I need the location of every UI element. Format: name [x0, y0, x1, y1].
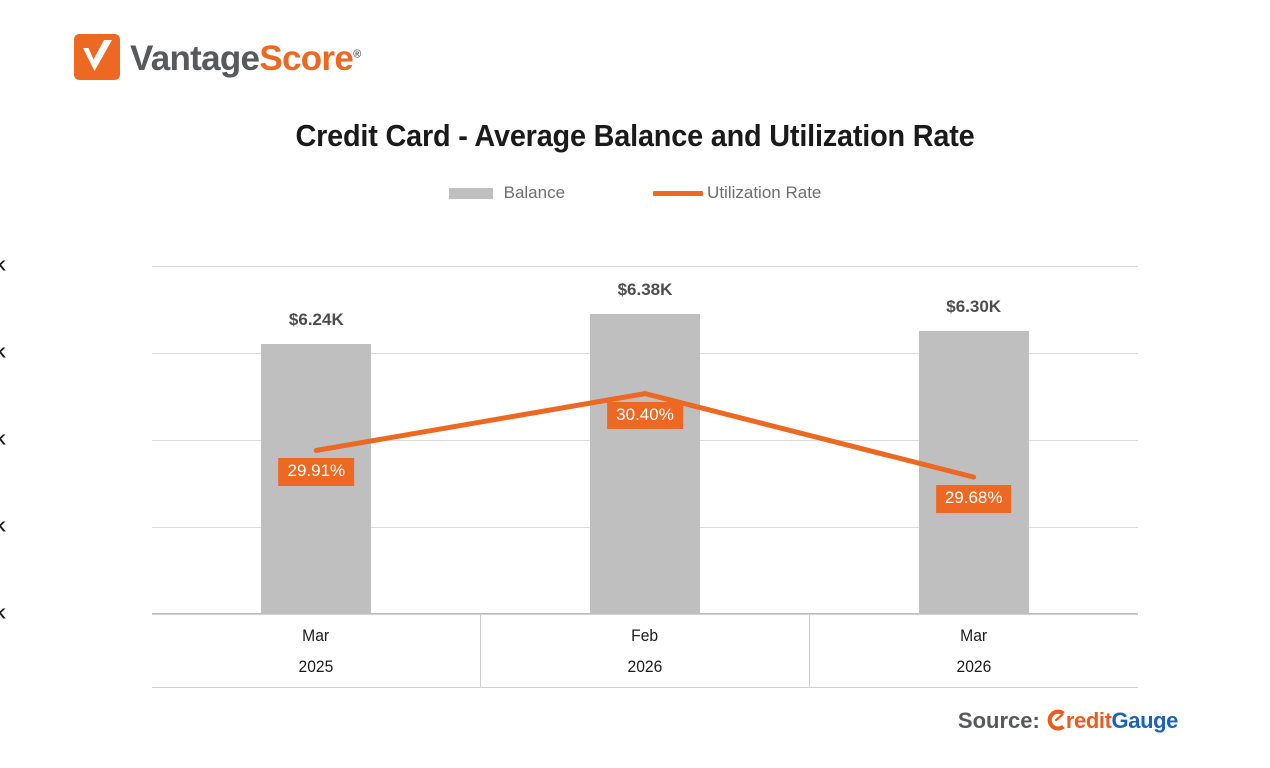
gridline	[152, 266, 1138, 267]
line-value-label: 29.91%	[278, 458, 354, 486]
x-axis-category-cell: Feb2026	[481, 615, 810, 687]
creditgauge-wordmark-credit: redit	[1046, 708, 1112, 734]
x-axis-year-label: 2025	[299, 657, 334, 677]
creditgauge-wordmark-gauge: Gauge	[1112, 708, 1178, 734]
vantagescore-logo: VantageScore®	[74, 33, 361, 81]
line-value-label: 29.68%	[936, 485, 1012, 513]
legend-item-balance: Balance	[449, 183, 565, 203]
bar-balance	[919, 331, 1029, 614]
x-axis-category-cell: Mar2025	[152, 615, 481, 687]
y-axis-left-tick-label: $5.0K	[0, 606, 6, 623]
logo-text-score: Score	[259, 39, 353, 78]
page-title: Credit Card - Average Balance and Utiliz…	[44, 118, 1225, 154]
x-axis-month-label: Feb	[632, 626, 659, 646]
chart-plot-area: $6.6K$6.2K$5.8K$5.4K$5.0K31.5%31.0%30.5%…	[152, 266, 1138, 614]
vantagescore-wordmark: VantageScore®	[130, 41, 361, 76]
bar-value-label: $6.38K	[618, 280, 673, 300]
source-label: Source:	[958, 708, 1040, 734]
legend-label-utilization-rate: Utilization Rate	[707, 183, 821, 203]
y-axis-left-tick-label: $6.6K	[0, 258, 6, 275]
y-axis-left-tick-label: $6.2K	[0, 345, 6, 362]
legend-item-utilization-rate: Utilization Rate	[653, 183, 821, 203]
bar-swatch-icon	[449, 188, 493, 199]
y-axis-left-tick-label: $5.8K	[0, 432, 6, 449]
vantagescore-checkmark-icon	[74, 34, 120, 80]
line-swatch-icon	[653, 191, 703, 196]
x-axis-year-label: 2026	[628, 657, 663, 677]
bar-balance	[590, 314, 700, 614]
creditgauge-credit-text: redit	[1066, 708, 1112, 733]
y-axis-left-tick-label: $5.4K	[0, 519, 6, 536]
source-credit: Source: reditGauge	[958, 708, 1178, 734]
x-axis-category-cell: Mar2026	[810, 615, 1138, 687]
logo-trademark-symbol: ®	[353, 48, 360, 60]
x-axis-year-label: 2026	[957, 657, 992, 677]
legend-label-balance: Balance	[504, 183, 565, 203]
line-value-label: 30.40%	[607, 402, 683, 430]
gauge-c-icon	[1046, 709, 1066, 731]
x-axis-month-label: Mar	[303, 626, 330, 646]
logo-text-vantage: Vantage	[130, 39, 259, 78]
bar-value-label: $6.30K	[946, 297, 1001, 317]
x-axis-month-label: Mar	[961, 626, 988, 646]
bar-value-label: $6.24K	[289, 310, 344, 330]
chart-legend: Balance Utilization Rate	[0, 183, 1270, 203]
x-axis-category-table: Mar2025Feb2026Mar2026	[152, 614, 1138, 688]
